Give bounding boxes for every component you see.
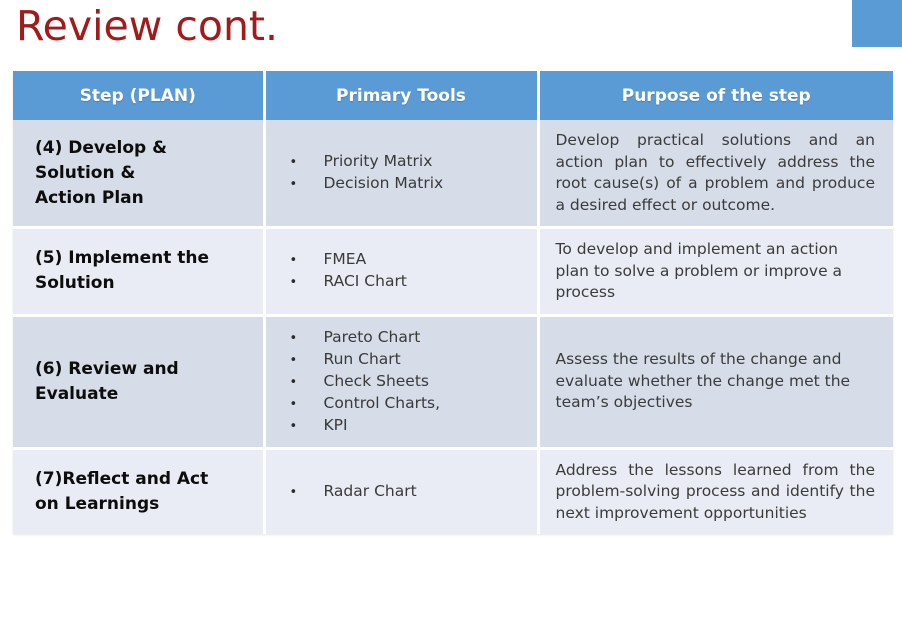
tools-cell: •FMEA•RACI Chart <box>264 228 538 316</box>
step-cell: (7)Reflect and Act on Learnings <box>13 448 264 534</box>
purpose-cell: Assess the results of the change and eva… <box>538 315 893 448</box>
tool-label: Decision Matrix <box>324 173 531 194</box>
list-item: •Pareto Chart <box>290 327 531 349</box>
tools-cell: •Pareto Chart•Run Chart•Check Sheets•Con… <box>264 315 538 448</box>
tool-list: •FMEA•RACI Chart <box>290 249 531 293</box>
purpose-cell: To develop and implement an action plan … <box>538 228 893 316</box>
list-item: •RACI Chart <box>290 271 531 293</box>
column-header-step: Step (PLAN) <box>13 71 264 120</box>
bullet-icon: • <box>290 272 324 293</box>
purpose-cell: Develop practical solutions and an actio… <box>538 120 893 228</box>
tool-list: •Pareto Chart•Run Chart•Check Sheets•Con… <box>290 327 531 437</box>
column-header-purpose: Purpose of the step <box>538 71 893 120</box>
bullet-icon: • <box>290 328 324 349</box>
purpose-text: Assess the results of the change and eva… <box>556 349 876 414</box>
list-item: •Radar Chart <box>290 481 531 503</box>
tool-list: •Radar Chart <box>290 481 531 503</box>
table-row: (5) Implement the Solution•FMEA•RACI Cha… <box>13 228 893 316</box>
tool-label: FMEA <box>324 249 531 270</box>
step-cell: (5) Implement the Solution <box>13 228 264 316</box>
table-row: (7)Reflect and Act on Learnings•Radar Ch… <box>13 448 893 534</box>
tool-label: Radar Chart <box>324 481 531 502</box>
accent-square <box>852 0 902 47</box>
step-name: (7)Reflect and Act on Learnings <box>35 467 255 517</box>
tool-label: KPI <box>324 415 531 436</box>
list-item: •Decision Matrix <box>290 173 531 195</box>
bullet-icon: • <box>290 372 324 393</box>
bullet-icon: • <box>290 174 324 195</box>
bullet-icon: • <box>290 482 324 503</box>
step-name: (4) Develop & Solution & Action Plan <box>35 136 255 211</box>
list-item: •KPI <box>290 415 531 437</box>
purpose-text: To develop and implement an action plan … <box>556 239 876 304</box>
column-header-primary-tools: Primary Tools <box>264 71 538 120</box>
purpose-text: Address the lessons learned from the pro… <box>556 460 876 525</box>
table-row: (4) Develop & Solution & Action Plan•Pri… <box>13 120 893 228</box>
step-name: (5) Implement the Solution <box>35 246 255 296</box>
list-item: •Control Charts, <box>290 393 531 415</box>
steps-table: Step (PLAN) Primary Tools Purpose of the… <box>13 71 893 534</box>
table-header-row: Step (PLAN) Primary Tools Purpose of the… <box>13 71 893 120</box>
table-row: (6) Review and Evaluate•Pareto Chart•Run… <box>13 315 893 448</box>
tool-label: RACI Chart <box>324 271 531 292</box>
purpose-text: Develop practical solutions and an actio… <box>556 130 876 216</box>
bullet-icon: • <box>290 250 324 271</box>
step-cell: (4) Develop & Solution & Action Plan <box>13 120 264 228</box>
list-item: •Check Sheets <box>290 371 531 393</box>
table-body: (4) Develop & Solution & Action Plan•Pri… <box>13 120 893 534</box>
list-item: •Run Chart <box>290 349 531 371</box>
tools-cell: •Priority Matrix•Decision Matrix <box>264 120 538 228</box>
tool-label: Pareto Chart <box>324 327 531 348</box>
step-cell: (6) Review and Evaluate <box>13 315 264 448</box>
list-item: •FMEA <box>290 249 531 271</box>
list-item: •Priority Matrix <box>290 151 531 173</box>
purpose-cell: Address the lessons learned from the pro… <box>538 448 893 534</box>
tool-label: Priority Matrix <box>324 151 531 172</box>
page-title: Review cont. <box>16 0 278 54</box>
tool-label: Control Charts, <box>324 393 531 414</box>
bullet-icon: • <box>290 416 324 437</box>
bullet-icon: • <box>290 152 324 173</box>
tools-cell: •Radar Chart <box>264 448 538 534</box>
tool-label: Run Chart <box>324 349 531 370</box>
bullet-icon: • <box>290 350 324 371</box>
bullet-icon: • <box>290 394 324 415</box>
tool-list: •Priority Matrix•Decision Matrix <box>290 151 531 195</box>
step-name: (6) Review and Evaluate <box>35 357 255 407</box>
tool-label: Check Sheets <box>324 371 531 392</box>
